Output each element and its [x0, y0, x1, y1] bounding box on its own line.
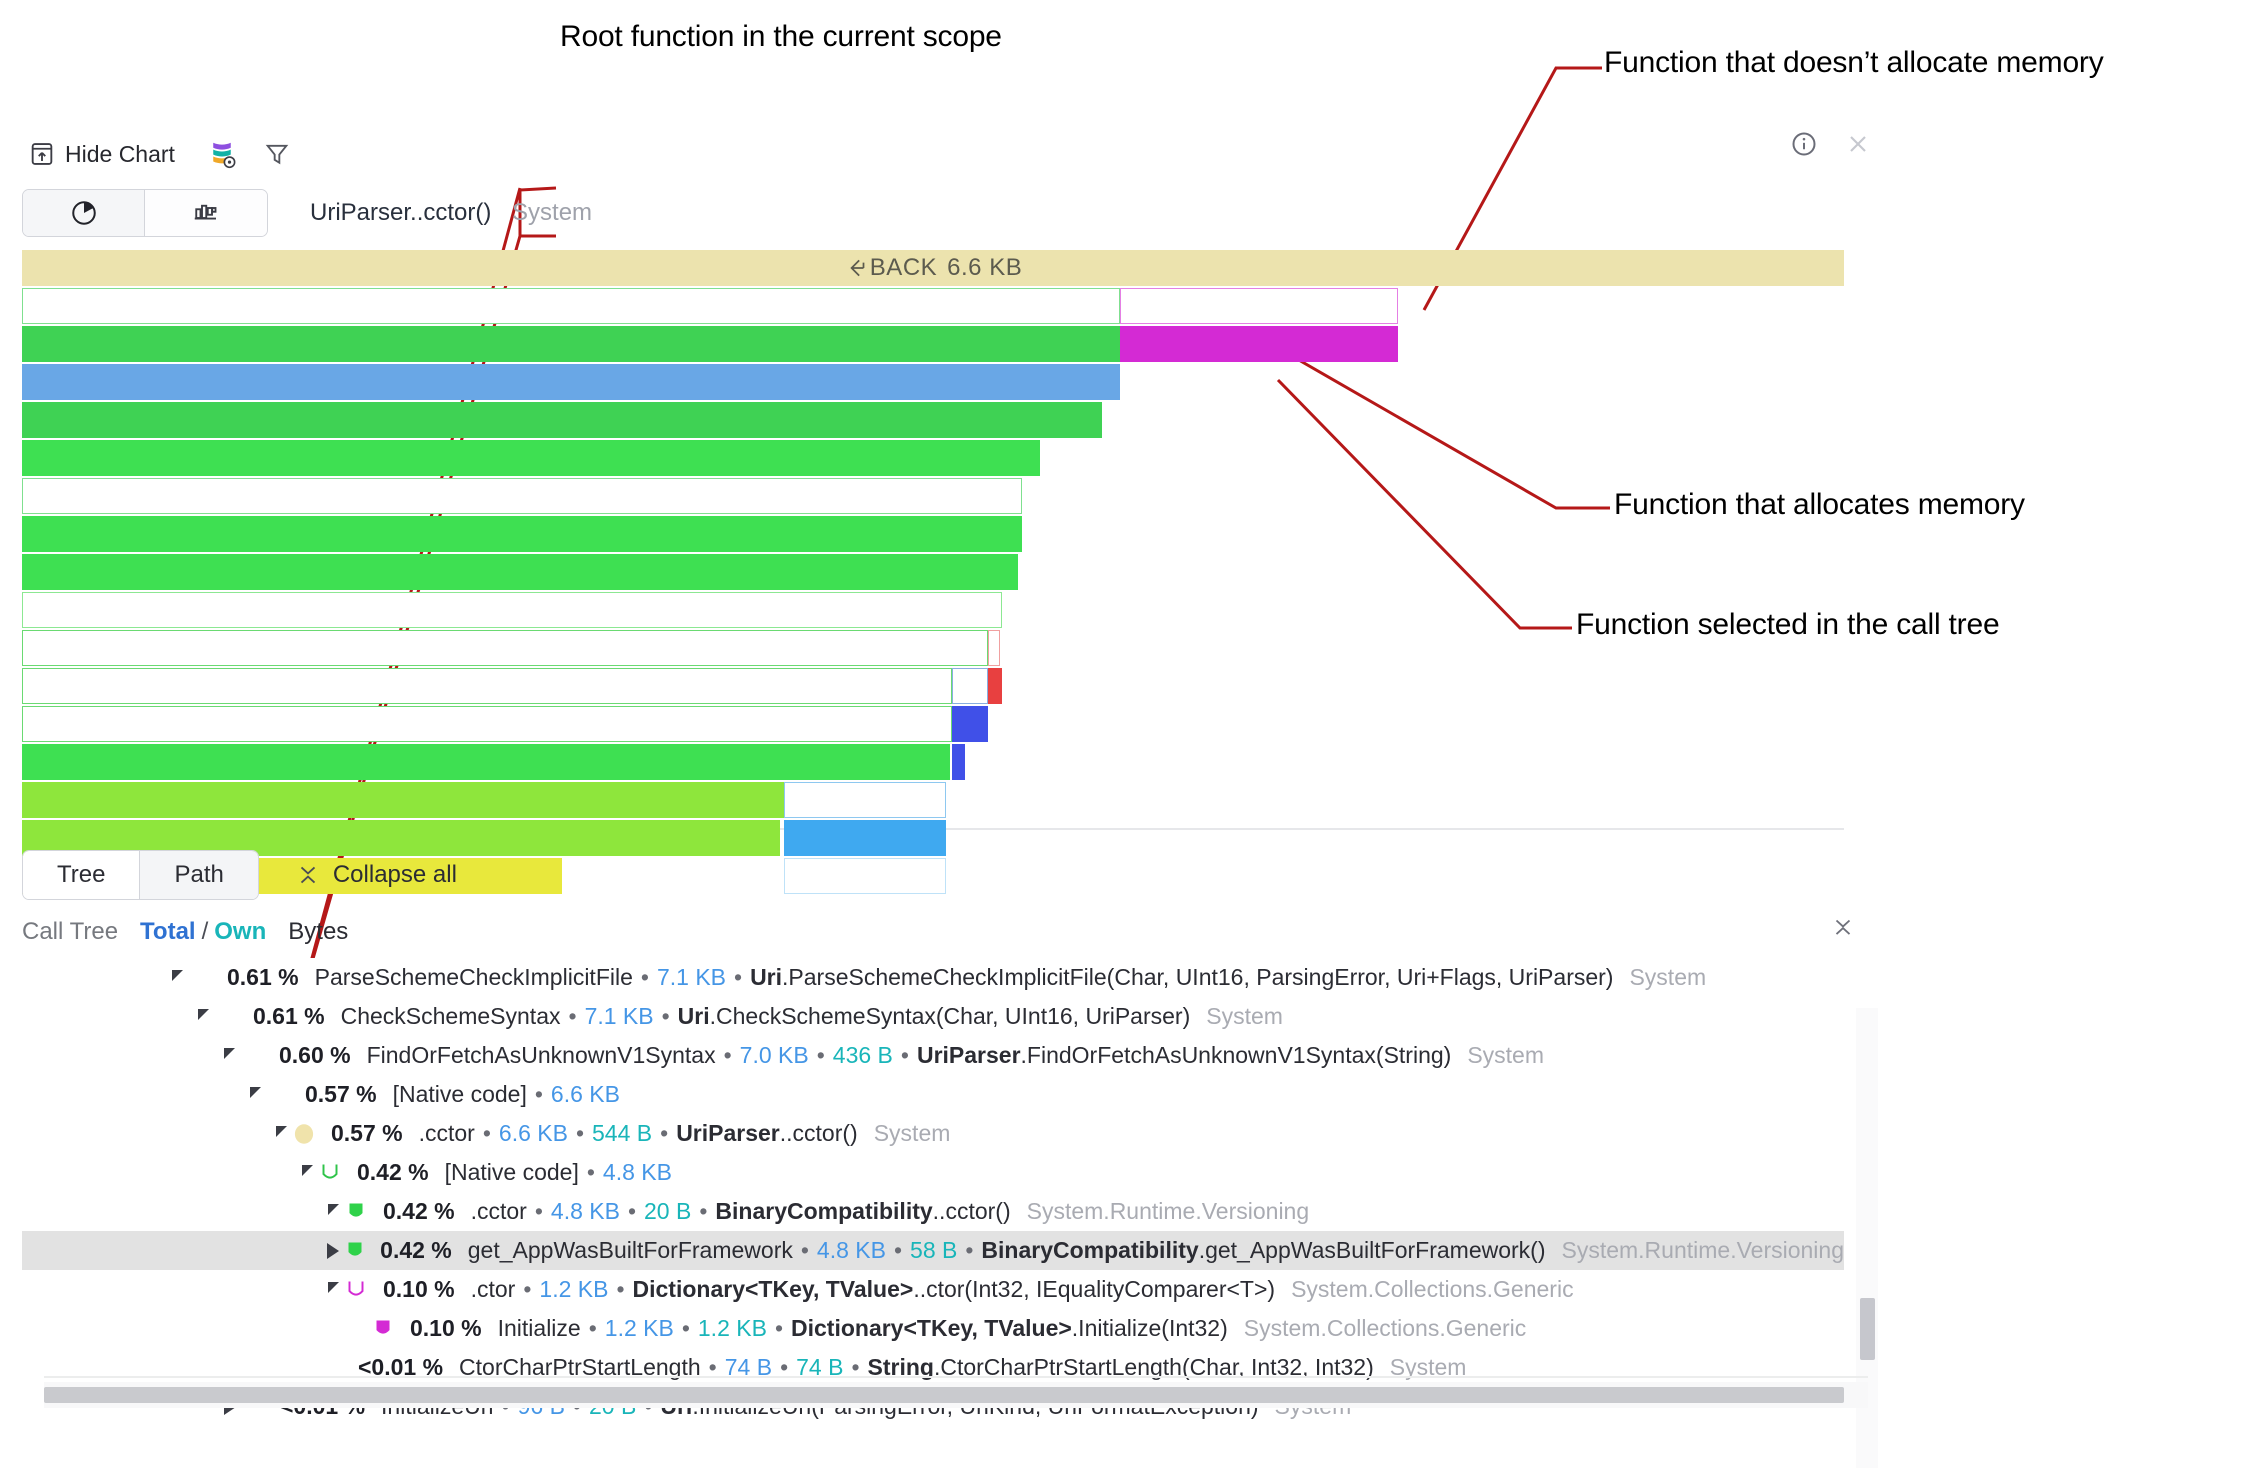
flame-row — [22, 744, 1844, 780]
row-separator-dot: • — [523, 1276, 531, 1303]
row-percent: 0.57 % — [305, 1081, 377, 1108]
filter-icon[interactable] — [263, 140, 291, 168]
flame-bar[interactable] — [22, 592, 1002, 628]
row-total-bytes: 7.1 KB — [585, 1003, 654, 1030]
row-separator-dot: • — [901, 1042, 909, 1069]
back-size: 6.6 KB — [947, 254, 1022, 282]
row-total-bytes: 6.6 KB — [499, 1120, 568, 1147]
table-row[interactable]: 0.10 %.ctor•1.2 KB•Dictionary<TKey, TVal… — [22, 1270, 1844, 1309]
call-tree-horizontal-scrollbar[interactable] — [44, 1382, 1868, 1408]
flame-row — [22, 592, 1844, 628]
tree-view-switch[interactable]: Tree Path — [22, 850, 259, 900]
expand-toggle-open-icon[interactable] — [276, 1128, 287, 1139]
close-icon[interactable] — [1844, 130, 1872, 158]
column-total[interactable]: Total — [140, 918, 196, 946]
table-row[interactable]: 0.42 %.cctor•4.8 KB•20 B•BinaryCompatibi… — [22, 1192, 1844, 1231]
row-function-name: [Native code] — [445, 1159, 579, 1186]
expand-toggle-open-icon[interactable] — [328, 1284, 339, 1295]
flame-back-bar[interactable]: BACK6.6 KB — [22, 250, 1844, 286]
flame-row — [22, 326, 1844, 362]
flame-chart[interactable]: BACK6.6 KB — [22, 250, 1844, 830]
flame-bar[interactable] — [22, 402, 1102, 438]
hide-chart-label: Hide Chart — [65, 141, 175, 168]
flame-bar[interactable] — [952, 706, 988, 742]
flame-row — [22, 554, 1844, 590]
row-signature: Dictionary<TKey, TValue>.Initialize(Int3… — [791, 1315, 1228, 1342]
row-function-name: ParseSchemeCheckImplicitFile — [315, 964, 633, 991]
flame-bar[interactable] — [784, 858, 946, 894]
row-separator-dot: • — [801, 1237, 809, 1264]
flame-bar[interactable] — [22, 478, 1022, 514]
row-separator-dot: • — [662, 1003, 670, 1030]
flame-bar[interactable] — [22, 744, 950, 780]
flame-bar[interactable] — [1120, 288, 1398, 324]
vertical-scrollbar-thumb[interactable] — [1860, 1298, 1875, 1360]
row-signature: Dictionary<TKey, TValue>..ctor(Int32, IE… — [633, 1276, 1276, 1303]
row-percent: 0.10 % — [383, 1276, 455, 1303]
flame-row — [22, 288, 1844, 324]
hide-chart-icon — [28, 140, 56, 168]
expand-toggle-open-icon[interactable] — [198, 1011, 209, 1022]
row-separator-dot: • — [483, 1120, 491, 1147]
column-separator: / — [202, 918, 209, 946]
row-namespace: System — [1629, 964, 1706, 991]
expand-toggle-open-icon[interactable] — [224, 1050, 235, 1061]
tree-view-bar: Tree Path Collapse all — [22, 850, 457, 900]
row-separator-dot: • — [641, 964, 649, 991]
chart-toolbar: Hide Chart — [22, 128, 1872, 180]
flame-bar[interactable] — [1120, 326, 1398, 362]
column-call-tree: Call Tree — [22, 918, 118, 946]
row-total-bytes: 7.1 KB — [657, 964, 726, 991]
flame-row — [22, 440, 1844, 476]
row-signature: BinaryCompatibility.get_AppWasBuiltForFr… — [981, 1237, 1545, 1264]
row-separator-dot: • — [535, 1081, 543, 1108]
table-row[interactable]: 0.42 %[Native code]•4.8 KB — [22, 1153, 1844, 1192]
back-label: BACK — [870, 254, 937, 282]
row-percent: 0.42 % — [380, 1237, 452, 1264]
row-percent: 0.42 % — [383, 1198, 455, 1225]
row-function-name: .cctor — [419, 1120, 475, 1147]
flame-row — [22, 668, 1844, 704]
row-own-bytes: 20 B — [644, 1198, 691, 1225]
flame-row: BACK6.6 KB — [22, 250, 1844, 286]
row-namespace: System.Runtime.Versioning — [1561, 1237, 1844, 1264]
flame-chart-icon — [191, 198, 221, 228]
row-signature-type: UriParser — [676, 1120, 780, 1146]
row-own-bytes: 1.2 KB — [698, 1315, 767, 1342]
flame-bar[interactable] — [22, 288, 1120, 324]
toolbar-right-actions — [1790, 130, 1872, 158]
annotation-root-scope: Root function in the current scope — [560, 20, 1002, 54]
row-function-name: .ctor — [471, 1276, 516, 1303]
row-function-name: CheckSchemeSyntax — [341, 1003, 561, 1030]
expand-toggle-closed-icon[interactable] — [327, 1243, 339, 1259]
row-total-bytes: 4.8 KB — [551, 1198, 620, 1225]
row-separator-dot: • — [589, 1315, 597, 1342]
row-separator-dot: • — [682, 1315, 690, 1342]
row-percent: 0.42 % — [357, 1159, 429, 1186]
row-separator-dot: • — [724, 1042, 732, 1069]
flame-bar[interactable] — [22, 706, 952, 742]
flame-bar[interactable] — [22, 554, 1018, 590]
row-signature: UriParser.FindOrFetchAsUnknownV1Syntax(S… — [917, 1042, 1451, 1069]
flame-bar[interactable] — [22, 364, 1120, 400]
flame-row — [22, 706, 1844, 742]
tab-tree[interactable]: Tree — [23, 851, 140, 899]
column-own[interactable]: Own — [214, 918, 266, 946]
flame-bar[interactable] — [22, 668, 952, 704]
scope-namespace: System — [512, 199, 592, 226]
row-separator-dot: • — [965, 1237, 973, 1264]
chart-type-bar: UriParser..cctor() System — [22, 186, 1872, 240]
row-function-name: get_AppWasBuiltForFramework — [468, 1237, 793, 1264]
row-namespace: System.Collections.Generic — [1244, 1315, 1527, 1342]
row-total-bytes: 7.0 KB — [740, 1042, 809, 1069]
row-own-bytes: 436 B — [833, 1042, 893, 1069]
row-separator-dot: • — [587, 1159, 595, 1186]
expand-toggle-open-icon[interactable] — [250, 1089, 261, 1100]
flame-bar[interactable] — [22, 782, 784, 818]
chart-type-flame[interactable] — [145, 190, 267, 236]
row-separator-dot: • — [569, 1003, 577, 1030]
row-total-bytes: 4.8 KB — [817, 1237, 886, 1264]
row-signature-type: Dictionary<TKey, TValue> — [633, 1276, 914, 1302]
alloc-shield-magenta-outline-icon — [339, 1277, 373, 1303]
horizontal-scrollbar-thumb[interactable] — [44, 1387, 1844, 1403]
row-signature-type: Dictionary<TKey, TValue> — [791, 1315, 1072, 1341]
row-separator-dot: • — [734, 964, 742, 991]
alloc-shield-solid-icon — [339, 1199, 373, 1225]
table-row-selected[interactable]: 0.42 %get_AppWasBuiltForFramework•4.8 KB… — [22, 1231, 1844, 1270]
alloc-shield-outline-icon — [313, 1160, 347, 1186]
pie-chart-icon — [69, 198, 99, 228]
row-function-name: Initialize — [498, 1315, 581, 1342]
flame-row — [22, 516, 1844, 552]
table-row[interactable]: 0.57 %.cctor•6.6 KB•544 B•UriParser..cct… — [22, 1114, 1844, 1153]
table-row[interactable]: 0.57 %[Native code]•6.6 KB — [22, 1075, 1844, 1114]
row-function-name: FindOrFetchAsUnknownV1Syntax — [367, 1042, 716, 1069]
row-function-name: .cctor — [471, 1198, 527, 1225]
row-own-bytes: 58 B — [910, 1237, 957, 1264]
flame-row — [22, 402, 1844, 438]
memory-snapshot-icon[interactable] — [207, 139, 237, 169]
flame-row — [22, 364, 1844, 400]
collapse-all-icon — [295, 862, 321, 888]
table-row[interactable]: 0.61 %ParseSchemeCheckImplicitFile•7.1 K… — [22, 958, 1844, 997]
flame-bar[interactable] — [22, 516, 1022, 552]
row-percent: 0.60 % — [279, 1042, 351, 1069]
row-separator-dot: • — [660, 1120, 668, 1147]
row-namespace: System — [874, 1120, 951, 1147]
expand-toggle-open-icon[interactable] — [172, 972, 183, 983]
panel-divider — [44, 1376, 1868, 1378]
table-row[interactable]: 0.10 %Initialize•1.2 KB•1.2 KB•Dictionar… — [22, 1309, 1844, 1348]
row-separator-dot: • — [775, 1315, 783, 1342]
row-signature-type: Uri — [678, 1003, 710, 1029]
row-separator-dot: • — [576, 1120, 584, 1147]
row-own-bytes: 544 B — [592, 1120, 652, 1147]
info-icon[interactable] — [1790, 130, 1818, 158]
row-percent: 0.61 % — [227, 964, 299, 991]
alloc-shield-solid-icon — [339, 1238, 370, 1264]
row-percent: 0.10 % — [410, 1315, 482, 1342]
chart-type-sunburst[interactable] — [23, 190, 145, 236]
table-row[interactable]: 0.61 %CheckSchemeSyntax•7.1 KB•Uri.Check… — [22, 997, 1844, 1036]
tab-path[interactable]: Path — [140, 851, 257, 899]
alloc-shield-magenta-solid-icon — [366, 1316, 400, 1342]
row-namespace: System — [1467, 1042, 1544, 1069]
flame-bar[interactable] — [952, 668, 988, 704]
scope-breadcrumb: UriParser..cctor() System — [310, 199, 592, 227]
hide-chart-button[interactable]: Hide Chart — [22, 134, 181, 174]
expand-toggle-none — [354, 1323, 366, 1335]
annotation-no-alloc: Function that doesn’t allocate memory — [1604, 46, 2104, 80]
chart-type-switch[interactable] — [22, 189, 268, 237]
flame-bar[interactable] — [952, 744, 965, 780]
row-signature-type: Uri — [750, 964, 782, 990]
flame-bar[interactable] — [988, 668, 1002, 704]
row-separator-dot: • — [894, 1237, 902, 1264]
root-scope-marker-icon — [287, 1121, 321, 1147]
expand-toggle-open-icon[interactable] — [328, 1206, 339, 1217]
row-namespace: System.Runtime.Versioning — [1027, 1198, 1310, 1225]
flame-bar[interactable] — [22, 630, 988, 666]
expand-toggle-none — [302, 1362, 314, 1374]
expand-toggle-open-icon[interactable] — [302, 1167, 313, 1178]
flame-row — [22, 630, 1844, 666]
column-bytes: Bytes — [288, 918, 348, 946]
back-arrow-icon — [844, 254, 870, 282]
row-signature: Uri.ParseSchemeCheckImplicitFile(Char, U… — [750, 964, 1613, 991]
row-separator-dot: • — [616, 1276, 624, 1303]
flame-bar[interactable] — [988, 630, 1000, 666]
row-percent: 0.61 % — [253, 1003, 325, 1030]
row-separator-dot: • — [628, 1198, 636, 1225]
row-total-bytes: 1.2 KB — [605, 1315, 674, 1342]
row-percent: 0.57 % — [331, 1120, 403, 1147]
row-signature: UriParser..cctor() — [676, 1120, 858, 1147]
row-total-bytes: 6.6 KB — [551, 1081, 620, 1108]
row-namespace: System — [1206, 1003, 1283, 1030]
row-signature-type: BinaryCompatibility — [981, 1237, 1198, 1263]
row-signature-type: UriParser — [917, 1042, 1021, 1068]
row-signature-type: BinaryCompatibility — [715, 1198, 932, 1224]
collapse-all-button[interactable]: Collapse all — [295, 861, 457, 889]
table-row[interactable]: 0.60 %FindOrFetchAsUnknownV1Syntax•7.0 K… — [22, 1036, 1844, 1075]
flame-bar[interactable] — [784, 820, 946, 856]
row-namespace: System.Collections.Generic — [1291, 1276, 1574, 1303]
flame-bar[interactable] — [784, 782, 946, 818]
memory-profiler-panel: Hide Chart — [22, 128, 1872, 1450]
row-separator-dot: • — [535, 1198, 543, 1225]
flame-row — [22, 478, 1844, 514]
row-signature: Uri.CheckSchemeSyntax(Char, UInt16, UriP… — [678, 1003, 1191, 1030]
flame-row — [22, 782, 1844, 818]
row-separator-dot: • — [817, 1042, 825, 1069]
scope-function: UriParser..cctor() — [310, 199, 491, 226]
call-tree-column-header: Call Tree Total / Own Bytes — [22, 918, 348, 946]
row-total-bytes: 1.2 KB — [539, 1276, 608, 1303]
flame-bar[interactable] — [22, 326, 1120, 362]
row-signature: BinaryCompatibility..cctor() — [715, 1198, 1010, 1225]
tree-collapse-toggle-icon[interactable] — [1830, 914, 1856, 945]
row-total-bytes: 4.8 KB — [603, 1159, 672, 1186]
row-function-name: [Native code] — [393, 1081, 527, 1108]
collapse-all-label: Collapse all — [333, 861, 457, 889]
flame-bar[interactable] — [22, 440, 1040, 476]
row-separator-dot: • — [699, 1198, 707, 1225]
